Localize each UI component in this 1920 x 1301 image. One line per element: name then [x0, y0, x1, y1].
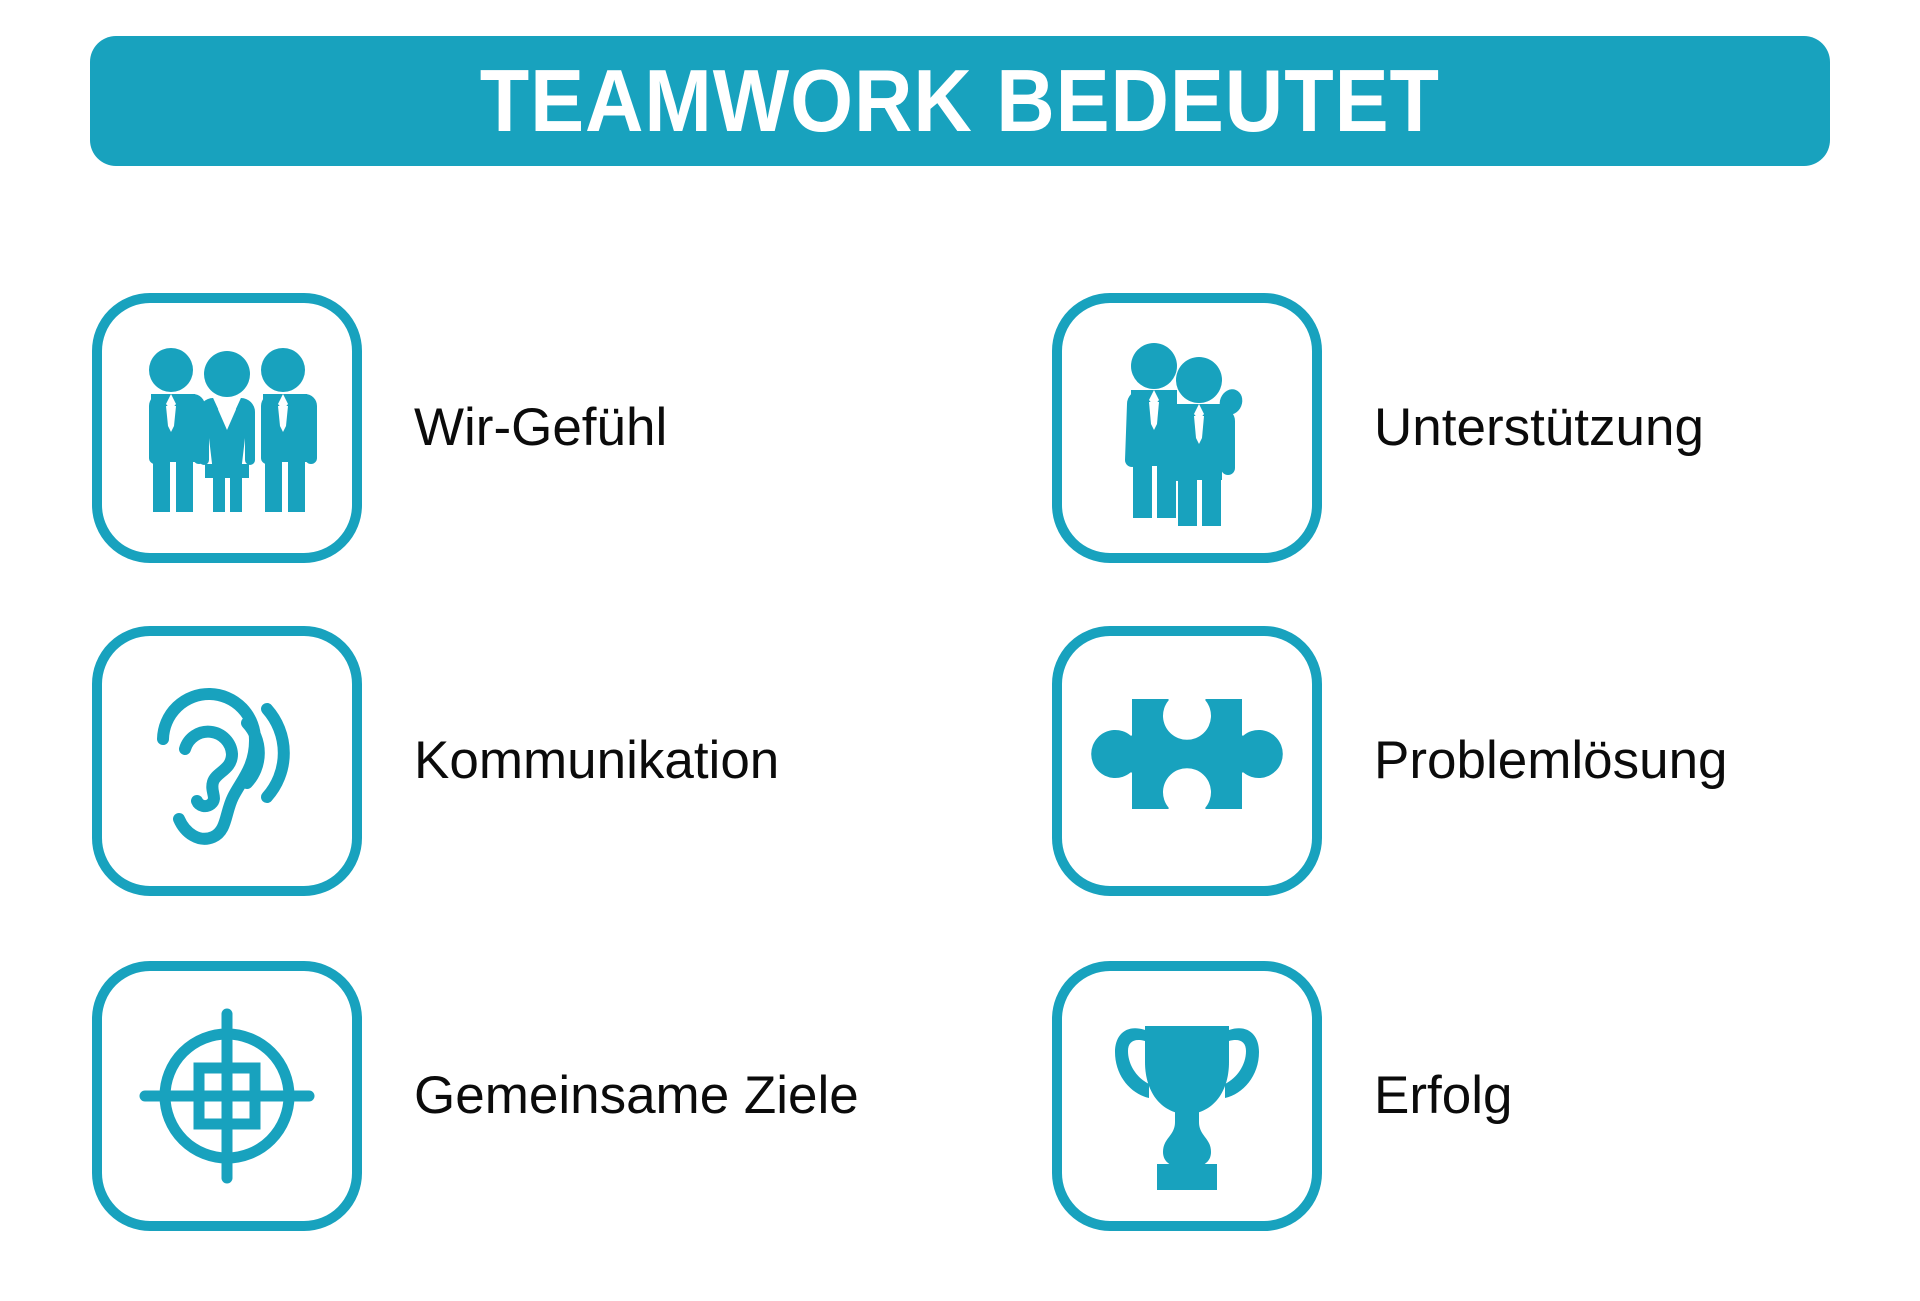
item-label-unterstuetzung: Unterstützung: [1374, 400, 1704, 456]
item-label-gemeinsame-ziele: Gemeinsame Ziele: [414, 1068, 859, 1124]
item-label-kommunikation: Kommunikation: [414, 733, 779, 789]
item-label-wir-gefuehl: Wir-Gefühl: [414, 400, 667, 456]
item-problemloesung[interactable]: Problemlösung: [1052, 626, 1728, 896]
icon-box-wir-gefuehl: [92, 293, 362, 563]
item-wir-gefuehl[interactable]: Wir-Gefühl: [92, 293, 667, 563]
icon-box-problemloesung: [1052, 626, 1322, 896]
icon-box-gemeinsame-ziele: [92, 961, 362, 1231]
ear-listening-icon: [127, 661, 327, 861]
trophy-icon: [1087, 996, 1287, 1196]
crosshair-target-icon: [127, 996, 327, 1196]
item-gemeinsame-ziele[interactable]: Gemeinsame Ziele: [92, 961, 859, 1231]
icon-box-kommunikation: [92, 626, 362, 896]
item-label-problemloesung: Problemlösung: [1374, 733, 1728, 789]
item-erfolg[interactable]: Erfolg: [1052, 961, 1512, 1231]
item-label-erfolg: Erfolg: [1374, 1068, 1512, 1124]
puzzle-piece-icon: [1087, 661, 1287, 861]
item-unterstuetzung[interactable]: Unterstützung: [1052, 293, 1704, 563]
item-kommunikation[interactable]: Kommunikation: [92, 626, 779, 896]
two-people-support-icon: [1087, 328, 1287, 528]
three-people-icon: [127, 328, 327, 528]
icon-box-erfolg: [1052, 961, 1322, 1231]
teamwork-items-grid: Wir-Gefühl: [0, 0, 1920, 1301]
icon-box-unterstuetzung: [1052, 293, 1322, 563]
